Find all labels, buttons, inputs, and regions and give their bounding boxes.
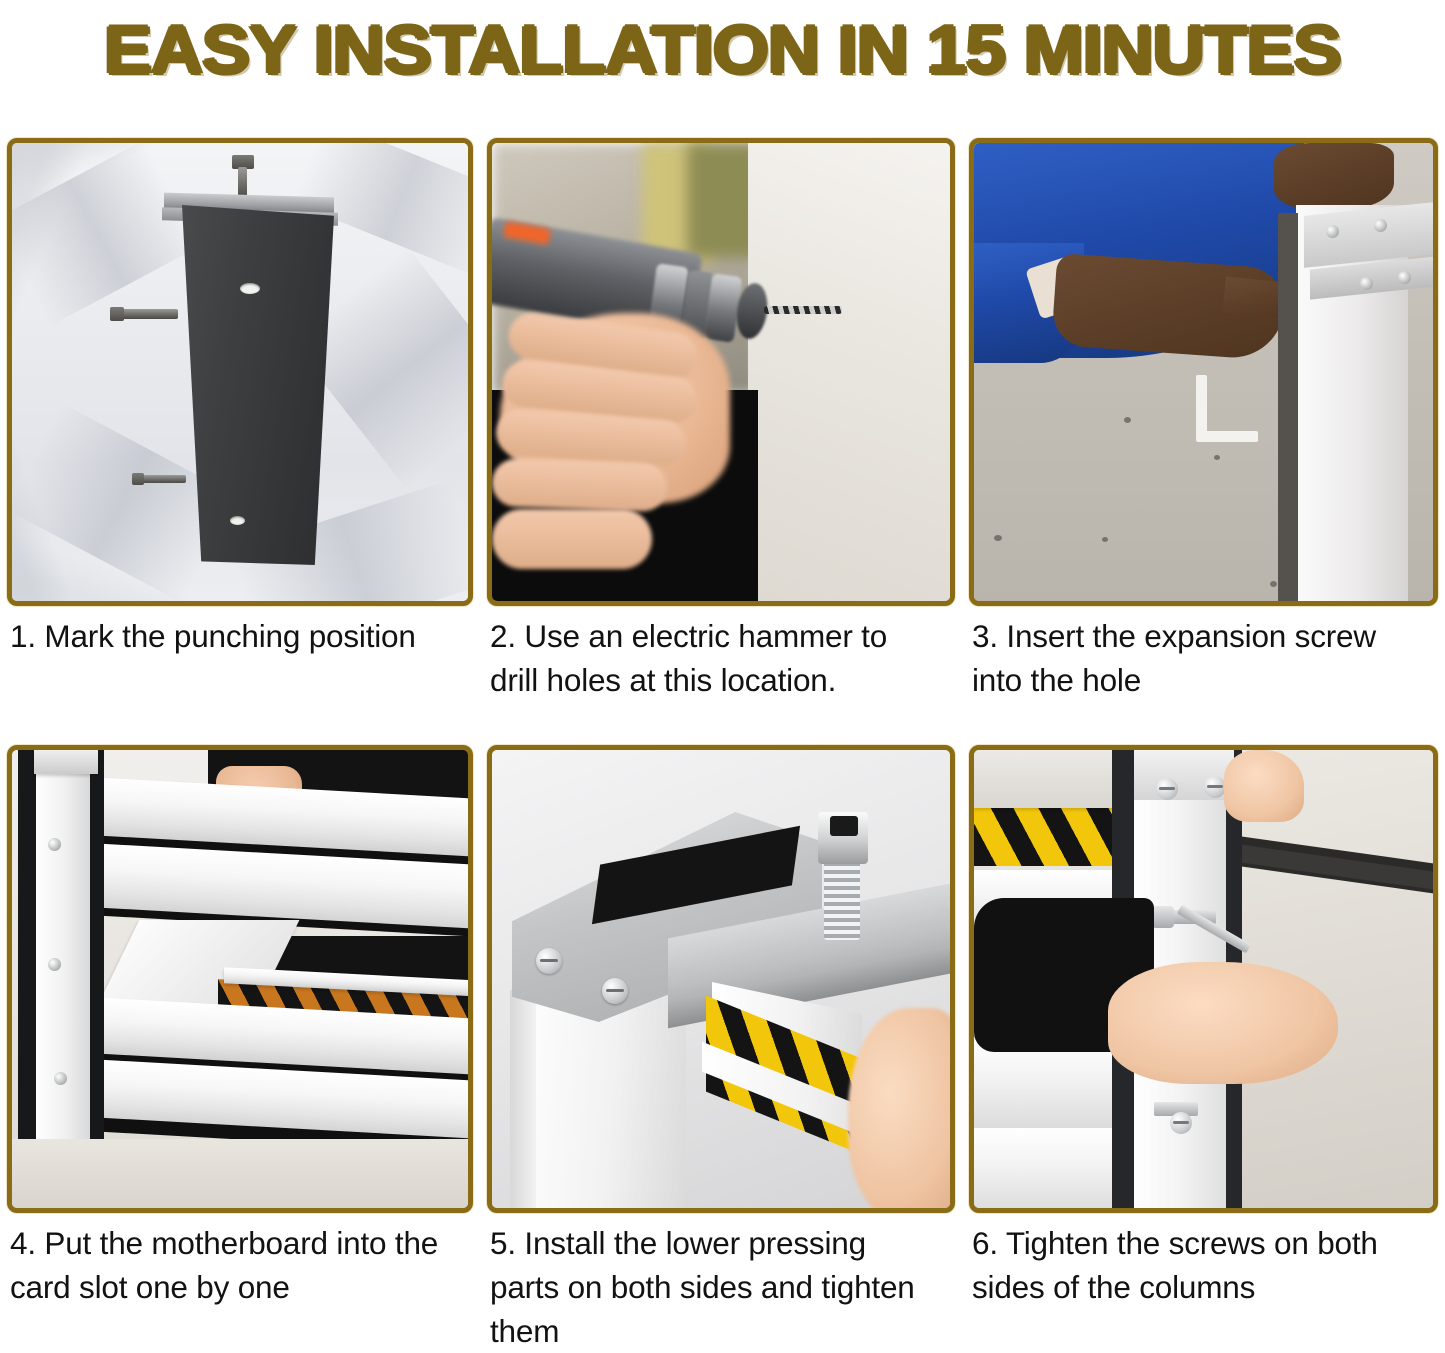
pressing-bracket-photo [492, 750, 950, 1208]
step-5-image-panel [487, 745, 955, 1213]
step-6-caption: 6. Tighten the screws on both sides of t… [972, 1221, 1434, 1309]
installation-steps-grid: 1. Mark the punching position [0, 100, 1445, 1314]
step-cell-5: 5. Install the lower pressing parts on b… [480, 707, 962, 1314]
step-5-caption: 5. Install the lower pressing parts on b… [490, 1221, 942, 1353]
step-3-image-panel [969, 138, 1438, 606]
page-title: EASY INSTALLATION IN 15 MINUTES [104, 15, 1341, 85]
step-cell-1: 1. Mark the punching position [0, 100, 480, 707]
step-cell-6: 6. Tighten the screws on both sides of t… [962, 707, 1445, 1314]
step-4-caption: 4. Put the motherboard into the card slo… [10, 1221, 462, 1309]
step-cell-2: 2. Use an electric hammer to drill holes… [480, 100, 962, 707]
expansion-screw-photo [974, 143, 1433, 601]
step-6-image-panel [969, 745, 1438, 1213]
tighten-screws-photo [974, 750, 1433, 1208]
step-1-image-panel [7, 138, 473, 606]
step-3-caption: 3. Insert the expansion screw into the h… [972, 614, 1434, 702]
step-2-caption: 2. Use an electric hammer to drill holes… [490, 614, 942, 702]
mounting-plate-photo [12, 143, 468, 601]
drill-wall-photo [492, 143, 950, 601]
header-banner: EASY INSTALLATION IN 15 MINUTES [0, 0, 1445, 100]
insert-boards-photo [12, 750, 468, 1208]
step-cell-3: 3. Insert the expansion screw into the h… [962, 100, 1445, 707]
step-1-caption: 1. Mark the punching position [10, 614, 462, 658]
step-2-image-panel [487, 138, 955, 606]
step-cell-4: 4. Put the motherboard into the card slo… [0, 707, 480, 1314]
step-4-image-panel [7, 745, 473, 1213]
